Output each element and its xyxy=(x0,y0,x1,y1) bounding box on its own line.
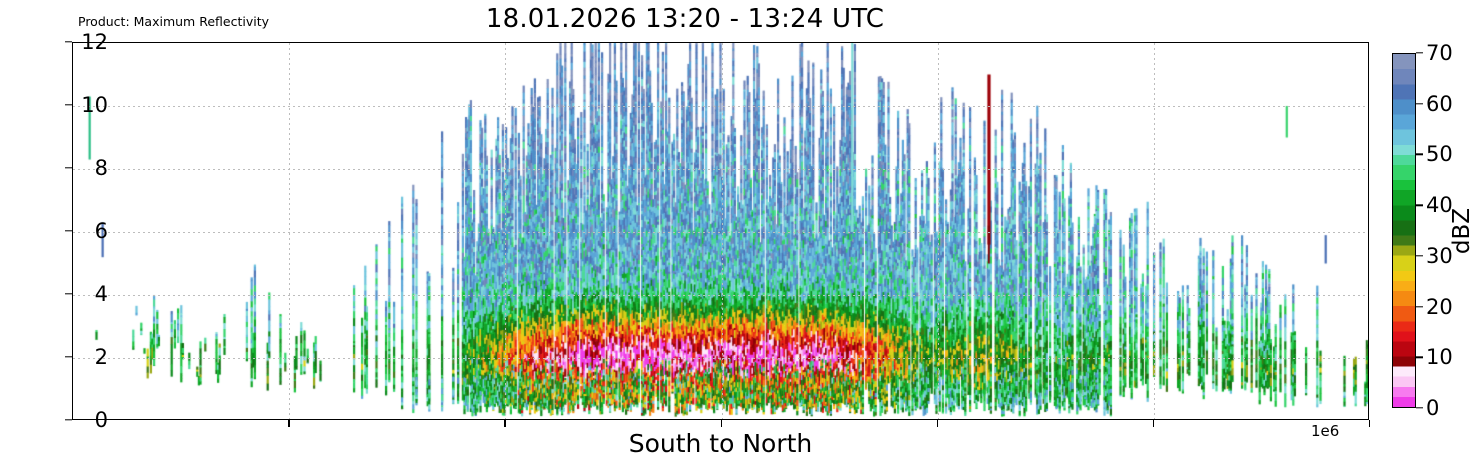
reflectivity-heatmap xyxy=(73,43,1369,420)
colorbar-tick-mark xyxy=(1416,154,1423,155)
colorbar-tick-mark xyxy=(1416,357,1423,358)
colorbar-tick-mark xyxy=(1416,306,1423,307)
y-axis-tick-mark xyxy=(65,356,72,357)
y-axis-tick-label: 10 xyxy=(81,93,108,117)
x-axis-tick-mark xyxy=(504,420,505,427)
x-axis-tick-mark xyxy=(1153,420,1154,427)
colorbar-gradient xyxy=(1392,53,1416,408)
colorbar-label: dBZ xyxy=(1449,208,1475,254)
x-axis-offset-label: 1e6 xyxy=(1311,422,1339,440)
y-axis-tick-label: 2 xyxy=(95,345,108,369)
radar-cross-section-figure: 18.01.2026 13:20 - 13:24 UTC Product: Ma… xyxy=(0,0,1482,470)
x-axis-tick-mark xyxy=(1369,420,1370,427)
y-axis-tick-mark xyxy=(65,41,72,42)
product-annotation: Product: Maximum Reflectivity xyxy=(78,14,269,29)
colorbar-tick-label: 10 xyxy=(1426,345,1453,369)
y-axis-tick-label: 8 xyxy=(95,156,108,180)
y-axis-tick-label: 0 xyxy=(95,408,108,432)
colorbar-tick-mark xyxy=(1416,52,1423,53)
x-axis-tick-mark xyxy=(288,420,289,427)
colorbar-tick-mark xyxy=(1416,103,1423,104)
y-axis-tick-label: 4 xyxy=(95,282,108,306)
colorbar-tick-label: 20 xyxy=(1426,295,1453,319)
y-axis-tick-mark xyxy=(65,230,72,231)
colorbar-tick-mark xyxy=(1416,255,1423,256)
colorbar-tick-label: 50 xyxy=(1426,142,1453,166)
plot-area[interactable] xyxy=(72,42,1369,420)
y-axis-label: km AMSL xyxy=(0,173,3,288)
y-axis-tick-mark xyxy=(65,419,72,420)
y-axis-tick-label: 12 xyxy=(81,30,108,54)
colorbar[interactable]: 010203040506070 xyxy=(1392,53,1416,408)
colorbar-tick-label: 0 xyxy=(1426,396,1439,420)
y-axis-tick-mark xyxy=(65,104,72,105)
colorbar-tick-label: 60 xyxy=(1426,92,1453,116)
y-axis-tick-label: 6 xyxy=(95,219,108,243)
colorbar-tick-mark xyxy=(1416,407,1423,408)
y-axis-tick-mark xyxy=(65,293,72,294)
colorbar-tick-mark xyxy=(1416,204,1423,205)
y-axis-tick-mark xyxy=(65,167,72,168)
x-axis-tick-mark xyxy=(721,420,722,427)
x-axis-tick-mark xyxy=(937,420,938,427)
x-axis-label: South to North xyxy=(72,429,1369,458)
colorbar-tick-label: 70 xyxy=(1426,41,1453,65)
